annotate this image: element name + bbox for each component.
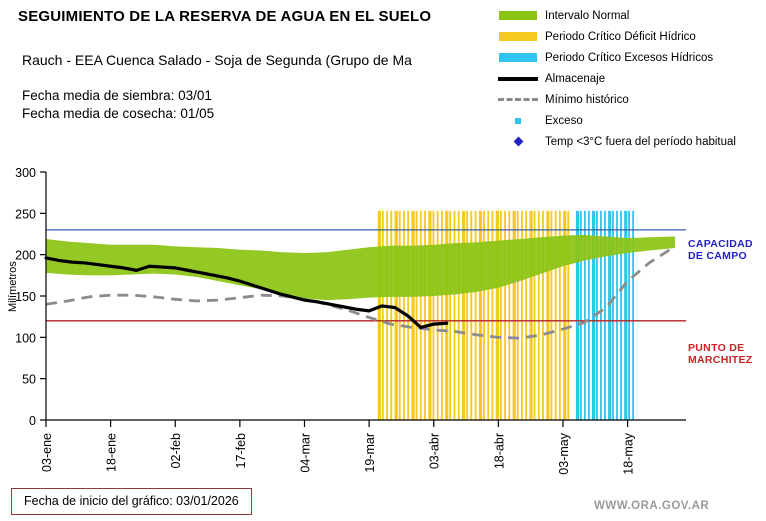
- critical-period-bar: [382, 211, 384, 420]
- critical-period-bar: [475, 211, 477, 420]
- critical-period-bar: [395, 211, 398, 420]
- y-tick-label: 200: [15, 249, 36, 263]
- x-tick-label: 18-abr: [492, 433, 506, 469]
- y-tick-label: 50: [22, 373, 36, 387]
- critical-period-bar: [424, 211, 426, 420]
- capacidad-line-1: CAPACIDAD: [688, 238, 753, 250]
- x-tick-label: 03-ene: [40, 433, 54, 472]
- x-tick-label: 03-abr: [428, 433, 442, 469]
- critical-period-bar: [428, 211, 431, 420]
- x-tick-label: 04-mar: [299, 433, 313, 473]
- critical-period-bar: [454, 211, 456, 420]
- y-axis-title: Milímetros: [7, 261, 19, 312]
- marchitez-line-2: MARCHITEZ: [688, 354, 753, 366]
- chart-start-date-box: Fecha de inicio del gráfico: 03/01/2026: [11, 488, 252, 515]
- x-tick-label: 18-ene: [105, 433, 119, 472]
- critical-period-bar: [416, 211, 418, 420]
- critical-period-bar: [386, 211, 388, 420]
- watermark: WWW.ORA.GOV.AR: [594, 500, 709, 512]
- capacidad-de-campo-annotation: CAPACIDAD DE CAMPO: [688, 238, 753, 262]
- y-tick-label: 0: [29, 414, 36, 428]
- chart-plot-area: 050100150200250300Milímetros03-ene18-ene…: [0, 0, 766, 521]
- marchitez-line-1: PUNTO DE: [688, 342, 753, 354]
- critical-period-bar: [399, 211, 401, 420]
- x-tick-label: 02-feb: [169, 433, 183, 468]
- critical-period-bar: [445, 211, 448, 420]
- punto-de-marchitez-annotation: PUNTO DE MARCHITEZ: [688, 342, 753, 366]
- critical-period-bar: [390, 211, 392, 420]
- critical-period-bar: [433, 211, 435, 420]
- y-tick-label: 300: [15, 166, 36, 180]
- y-tick-label: 100: [15, 331, 36, 345]
- critical-period-bar: [449, 211, 451, 420]
- critical-period-bar: [437, 211, 439, 420]
- x-tick-label: 03-may: [557, 432, 571, 474]
- x-tick-label: 18-may: [622, 432, 636, 474]
- x-tick-label: 17-feb: [234, 433, 248, 468]
- critical-period-bar: [441, 211, 443, 420]
- critical-period-bar: [466, 211, 468, 420]
- critical-period-bar: [470, 211, 472, 420]
- critical-period-bar: [458, 211, 460, 420]
- y-tick-label: 250: [15, 207, 36, 221]
- capacidad-line-2: DE CAMPO: [688, 250, 753, 262]
- critical-period-bar: [462, 211, 465, 420]
- critical-period-bar: [420, 211, 422, 420]
- critical-period-bar: [378, 211, 381, 420]
- critical-period-bar: [411, 211, 414, 420]
- x-tick-label: 19-mar: [363, 433, 377, 473]
